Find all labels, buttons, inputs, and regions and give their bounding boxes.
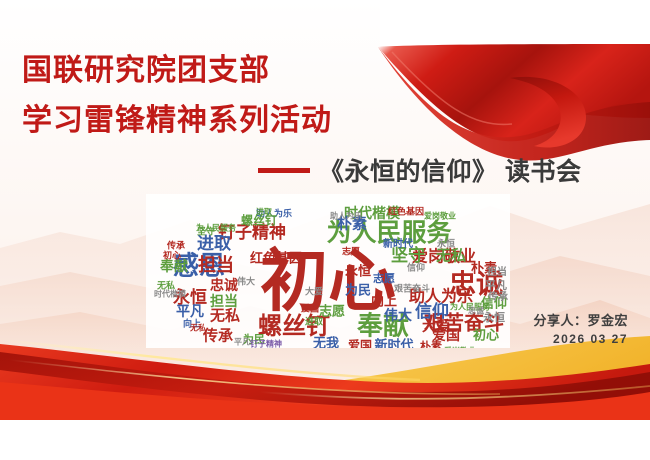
wordcloud-word: 永恒	[344, 264, 371, 280]
wordcloud-word: 新时代	[383, 237, 413, 250]
wordcloud-word: 担当	[198, 254, 234, 276]
page-title-line-1: 国联研究院团支部	[22, 56, 270, 86]
wordcloud-word: 坚守	[197, 226, 215, 238]
wordcloud-word: 平凡	[485, 279, 507, 292]
wordcloud-word: 爱岗敬业	[444, 346, 476, 349]
wordcloud-panel: 初心为人民服务忠诚感恩奉献螺丝钉艰苦奋斗钉子精神爱岗敬业助人为乐时代楷模红色基因…	[146, 194, 510, 348]
presenter-name: 分享人：罗金宏	[533, 310, 628, 329]
wordcloud-word: 初心	[163, 250, 181, 262]
wordcloud-word: 进取	[256, 207, 272, 217]
wordcloud-word: 时代楷模	[154, 289, 187, 299]
wordcloud-word: 爱岗敬业	[424, 211, 456, 221]
wordcloud-word: 无我	[312, 336, 339, 349]
wordcloud-word: 忠诚	[468, 306, 484, 316]
wordcloud-word: 志愿	[342, 246, 360, 258]
wordcloud-word: 传承	[166, 240, 185, 252]
wordcloud-word: 钉子精神	[250, 339, 282, 349]
wordcloud-word: 永恒	[436, 238, 455, 250]
wordcloud-word: 爱国	[348, 338, 372, 349]
subtitle-text: 《永恒的信仰》 读书会	[319, 152, 581, 188]
wordcloud-word: 伟大	[384, 307, 412, 324]
wordcloud-word: 无私	[189, 323, 206, 333]
wordcloud-word: 志愿	[373, 271, 395, 285]
wordcloud-word: 担当	[487, 265, 507, 278]
wordcloud-word: 平凡	[176, 304, 204, 320]
wordcloud-word: 助人为乐	[330, 211, 362, 221]
wordcloud-word: 爱国	[301, 303, 319, 315]
wordcloud-word: 进取	[305, 316, 324, 328]
wordcloud-word: 新时代	[374, 338, 413, 349]
subtitle-row: 《永恒的信仰》 读书会	[258, 152, 581, 188]
wordcloud-word: 无私	[209, 307, 240, 325]
wordcloud-word: 传承	[487, 290, 508, 303]
wordcloud-word: 信仰	[407, 262, 425, 274]
wordcloud-word: 红色基因	[388, 206, 424, 218]
page-title-line-2: 学习雷锋精神系列活动	[22, 106, 332, 136]
wordcloud-word: 初心	[473, 328, 499, 344]
wordcloud-word: 永恒	[482, 310, 505, 324]
wordcloud-word: 大爱	[422, 318, 450, 335]
wordcloud-word: 伟大	[237, 276, 255, 288]
presentation-date: 2026 03 27	[533, 332, 628, 346]
wordcloud-word: 平凡	[234, 338, 250, 347]
wordcloud-word: 大爱	[305, 286, 323, 298]
wordcloud-word: 艰苦奋斗	[393, 283, 430, 295]
wordcloud-word: 传承	[202, 327, 233, 345]
wordcloud-graphic: 初心为人民服务忠诚感恩奉献螺丝钉艰苦奋斗钉子精神爱岗敬业助人为乐时代楷模红色基因…	[146, 194, 510, 348]
wordcloud-word: 为民	[345, 283, 371, 299]
wordcloud-word: 忠诚	[210, 277, 238, 294]
wordcloud-word: 向上	[371, 294, 397, 310]
poster-canvas: 国联研究院团支部 学习雷锋精神系列活动 《永恒的信仰》 读书会 初心为人民服务忠…	[0, 0, 650, 460]
wordcloud-word: 红色基因	[250, 251, 302, 267]
presenter-block: 分享人：罗金宏 2026 03 27	[533, 310, 628, 346]
subtitle-dash-rule	[258, 168, 310, 173]
